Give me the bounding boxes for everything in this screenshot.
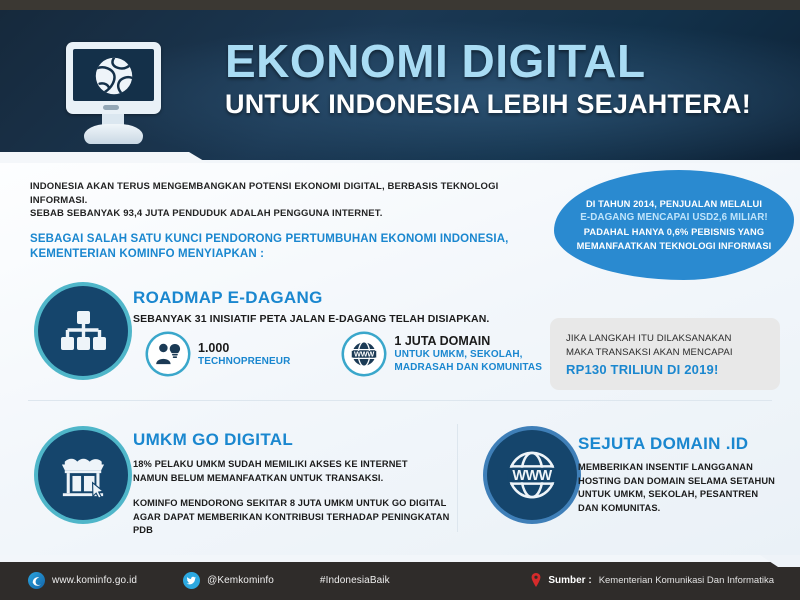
svg-text:WWW: WWW bbox=[354, 350, 374, 359]
footer-twitter[interactable]: @Kemkominfo bbox=[183, 572, 274, 589]
footer-source-group: Sumber : Kementerian Komunikasi Dan Info… bbox=[531, 573, 774, 587]
page-title: EKONOMI DIGITAL bbox=[225, 36, 765, 86]
www-globe-icon: WWW bbox=[505, 448, 559, 502]
callout-line-3: PADAHAL HANYA 0,6% PEBISNIS YANG bbox=[577, 225, 772, 239]
intro-block: INDONESIA AKAN TERUS MENGEMBANGKAN POTEN… bbox=[30, 180, 530, 262]
header-title-group: EKONOMI DIGITAL UNTUK INDONESIA LEBIH SE… bbox=[225, 36, 765, 120]
footer-source-value: Kementerian Komunikasi Dan Informatika bbox=[599, 575, 774, 586]
stat-domain-text: 1 JUTA DOMAIN UNTUK UMKM, SEKOLAH, MADRA… bbox=[394, 334, 542, 374]
stat-technopreneur: 1.000 TECHNOPRENEUR bbox=[148, 334, 290, 374]
umkm-para2-line2: AGAR DAPAT MEMBERIKAN KONTRIBUSI TERHADA… bbox=[133, 511, 453, 538]
sejuta-line-3: UNTUK UMKM, SEKOLAH, PESANTREN bbox=[578, 488, 793, 502]
svg-text:WWW: WWW bbox=[512, 468, 552, 484]
umkm-text-block: UMKM GO DIGITAL 18% PELAKU UMKM SUDAH ME… bbox=[133, 430, 453, 538]
monitor-inner-screen bbox=[73, 49, 154, 101]
stat-technopreneur-number: 1.000 bbox=[198, 341, 290, 355]
umkm-para1-line1: 18% PELAKU UMKM SUDAH MEMILIKI AKSES KE … bbox=[133, 458, 453, 472]
footer-hashtag[interactable]: #IndonesiaBaik bbox=[320, 575, 390, 586]
sejuta-line-4: DAN KOMUNITAS. bbox=[578, 502, 793, 516]
umkm-para1-line2: NAMUN BELUM MEMANFAATKAN UNTUK TRANSAKSI… bbox=[133, 472, 453, 486]
header-banner: EKONOMI DIGITAL UNTUK INDONESIA LEBIH SE… bbox=[0, 10, 800, 160]
section-divider-vertical bbox=[457, 424, 458, 532]
callout-text-group: DI TAHUN 2014, PENJUALAN MELALUI E-DAGAN… bbox=[559, 197, 790, 253]
projection-line-2: MAKA TRANSAKSI AKAN MENCAPAI bbox=[566, 346, 764, 360]
roadmap-icon-badge bbox=[38, 286, 128, 376]
twitter-bird-icon bbox=[183, 572, 200, 589]
sejuta-line-1: MEMBERIKAN INSENTIF LANGGANAN bbox=[578, 461, 793, 475]
www-globe-icon: WWW bbox=[344, 334, 384, 374]
stat-domain-label-2: MADRASAH DAN KOMUNITAS bbox=[394, 361, 542, 374]
stat-domain: WWW 1 JUTA DOMAIN UNTUK UMKM, SEKOLAH, M… bbox=[344, 334, 542, 374]
intro-heading-2: KEMENTERIAN KOMINFO MENYIAPKAN : bbox=[30, 247, 530, 262]
sejuta-title: SEJUTA DOMAIN .ID bbox=[578, 434, 793, 454]
umkm-icon-badge bbox=[38, 430, 128, 520]
kominfo-logo-icon bbox=[28, 572, 45, 589]
umkm-para2-line1: KOMINFO MENDORONG SEKITAR 8 JUTA UMKM UN… bbox=[133, 497, 453, 511]
intro-heading-1: SEBAGAI SALAH SATU KUNCI PENDORONG PERTU… bbox=[30, 232, 530, 247]
intro-line-1: INDONESIA AKAN TERUS MENGEMBANGKAN POTEN… bbox=[30, 180, 530, 207]
roadmap-subtitle: SEBANYAK 31 INISIATIF PETA JALAN E-DAGAN… bbox=[133, 313, 533, 325]
sejuta-icon-badge: WWW bbox=[487, 430, 577, 520]
top-strip bbox=[0, 0, 800, 10]
storefront-cursor-icon bbox=[58, 452, 108, 498]
callout-line-4: MEMANFAATKAN TEKNOLOGI INFORMASI bbox=[577, 239, 772, 253]
umkm-title: UMKM GO DIGITAL bbox=[133, 430, 453, 450]
infographic-page: EKONOMI DIGITAL UNTUK INDONESIA LEBIH SE… bbox=[0, 0, 800, 600]
technopreneur-icon bbox=[148, 334, 188, 374]
projection-line-1: JIKA LANGKAH ITU DILAKSANAKAN bbox=[566, 332, 764, 346]
monitor-screen bbox=[66, 42, 161, 114]
footer-website-text: www.kominfo.go.id bbox=[52, 575, 137, 586]
section-divider-horizontal bbox=[28, 400, 772, 401]
roadmap-text-block: ROADMAP E-DAGANG SEBANYAK 31 INISIATIF P… bbox=[133, 288, 533, 325]
stat-technopreneur-label: TECHNOPRENEUR bbox=[198, 355, 290, 368]
page-subtitle: UNTUK INDONESIA LEBIH SEJAHTERA! bbox=[225, 88, 765, 120]
projection-highlight: RP130 TRILIUN DI 2019! bbox=[566, 361, 764, 379]
sejuta-line-2: HOSTING DAN DOMAIN SELAMA SETAHUN bbox=[578, 475, 793, 489]
globe-icon bbox=[91, 53, 137, 99]
roadmap-title: ROADMAP E-DAGANG bbox=[133, 288, 533, 308]
pin-icon bbox=[531, 573, 541, 587]
stat-technopreneur-text: 1.000 TECHNOPRENEUR bbox=[198, 341, 290, 368]
callout-line-1: DI TAHUN 2014, PENJUALAN MELALUI bbox=[577, 197, 772, 211]
footer-source-label: Sumber : bbox=[548, 575, 591, 586]
intro-line-2: SEBAB SEBANYAK 93,4 JUTA PENDUDUK ADALAH… bbox=[30, 207, 530, 221]
stat-domain-number: 1 JUTA DOMAIN bbox=[394, 334, 542, 348]
callout-line-2: E-DAGANG MENCAPAI USD2,6 MILIAR! bbox=[577, 211, 772, 225]
roadmap-stats-row: 1.000 TECHNOPRENEUR WWW 1 JUTA DOM bbox=[148, 334, 542, 374]
projection-box: JIKA LANGKAH ITU DILAKSANAKAN MAKA TRANS… bbox=[550, 318, 780, 390]
footer-left-group: www.kominfo.go.id @Kemkominfo #Indonesia… bbox=[28, 572, 390, 589]
monitor-power-button bbox=[103, 105, 119, 110]
sejuta-text-block: SEJUTA DOMAIN .ID MEMBERIKAN INSENTIF LA… bbox=[578, 434, 793, 515]
footer-twitter-text: @Kemkominfo bbox=[207, 575, 274, 586]
org-chart-icon bbox=[60, 310, 106, 352]
monitor-base bbox=[84, 124, 143, 144]
stat-domain-label-1: UNTUK UMKM, SEKOLAH, bbox=[394, 348, 542, 361]
footer-website[interactable]: www.kominfo.go.id bbox=[28, 572, 137, 589]
monitor-globe-icon bbox=[58, 42, 168, 150]
